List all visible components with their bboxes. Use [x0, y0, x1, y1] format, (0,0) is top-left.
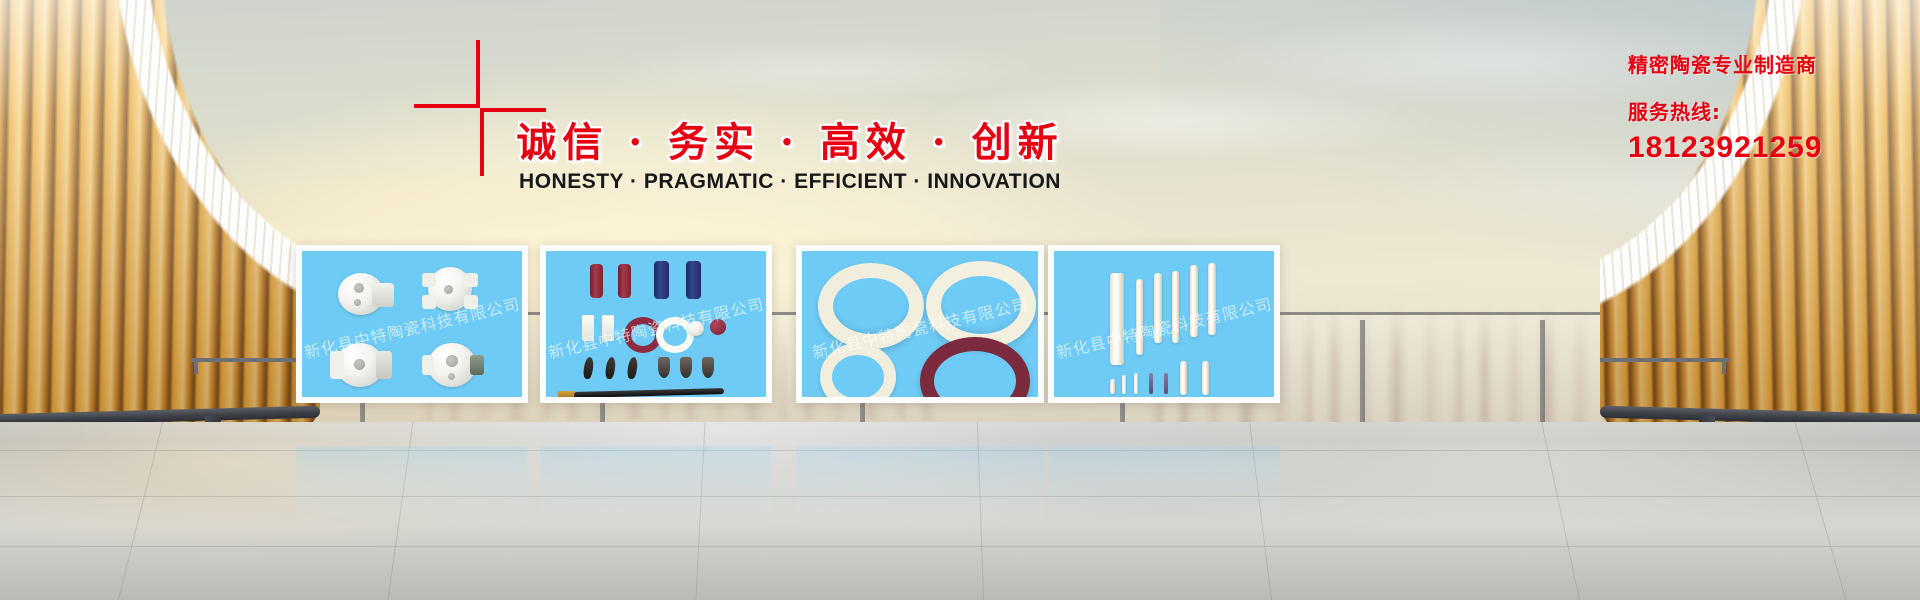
product-panel-3[interactable]: 新化县中特陶瓷科技有限公司 [796, 245, 1044, 403]
slogan-chinese: 诚信 · 务实 · 高效 · 创新 [480, 110, 1100, 168]
company-tagline: 精密陶瓷专业制造商 [1628, 52, 1858, 79]
slogan-english: HONESTY · PRAGMATIC · EFFICIENT · INNOVA… [480, 170, 1100, 194]
hotline-label: 服务热线: [1628, 99, 1858, 126]
panel-reflection-2 [540, 446, 772, 554]
white-canopy-band-left [0, 0, 320, 470]
promo-banner: 新化县中特陶瓷科技有限公司 [0, 0, 1920, 600]
hotline-number[interactable]: 18123921259 [1628, 130, 1858, 166]
product-panel-2[interactable]: 新化县中特陶瓷科技有限公司 [540, 245, 772, 403]
slogan-block: 诚信 · 务实 · 高效 · 创新 HONESTY · PRAGMATIC · … [480, 108, 1100, 200]
product-panel-1[interactable]: 新化县中特陶瓷科技有限公司 [296, 245, 528, 403]
upper-rail-right [1600, 358, 1730, 362]
panel-reflection-1 [296, 446, 528, 554]
panel-reflection-4 [1048, 446, 1280, 554]
panel-reflection-3 [796, 446, 1044, 554]
architecture-curve-left [0, 0, 320, 470]
contact-block: 精密陶瓷专业制造商 服务热线: 18123921259 [1628, 52, 1858, 166]
product-panel-4[interactable]: 新化县中特陶瓷科技有限公司 [1048, 245, 1280, 403]
upper-rail-post-right [1722, 358, 1726, 374]
upper-rail-post-left [194, 358, 198, 374]
